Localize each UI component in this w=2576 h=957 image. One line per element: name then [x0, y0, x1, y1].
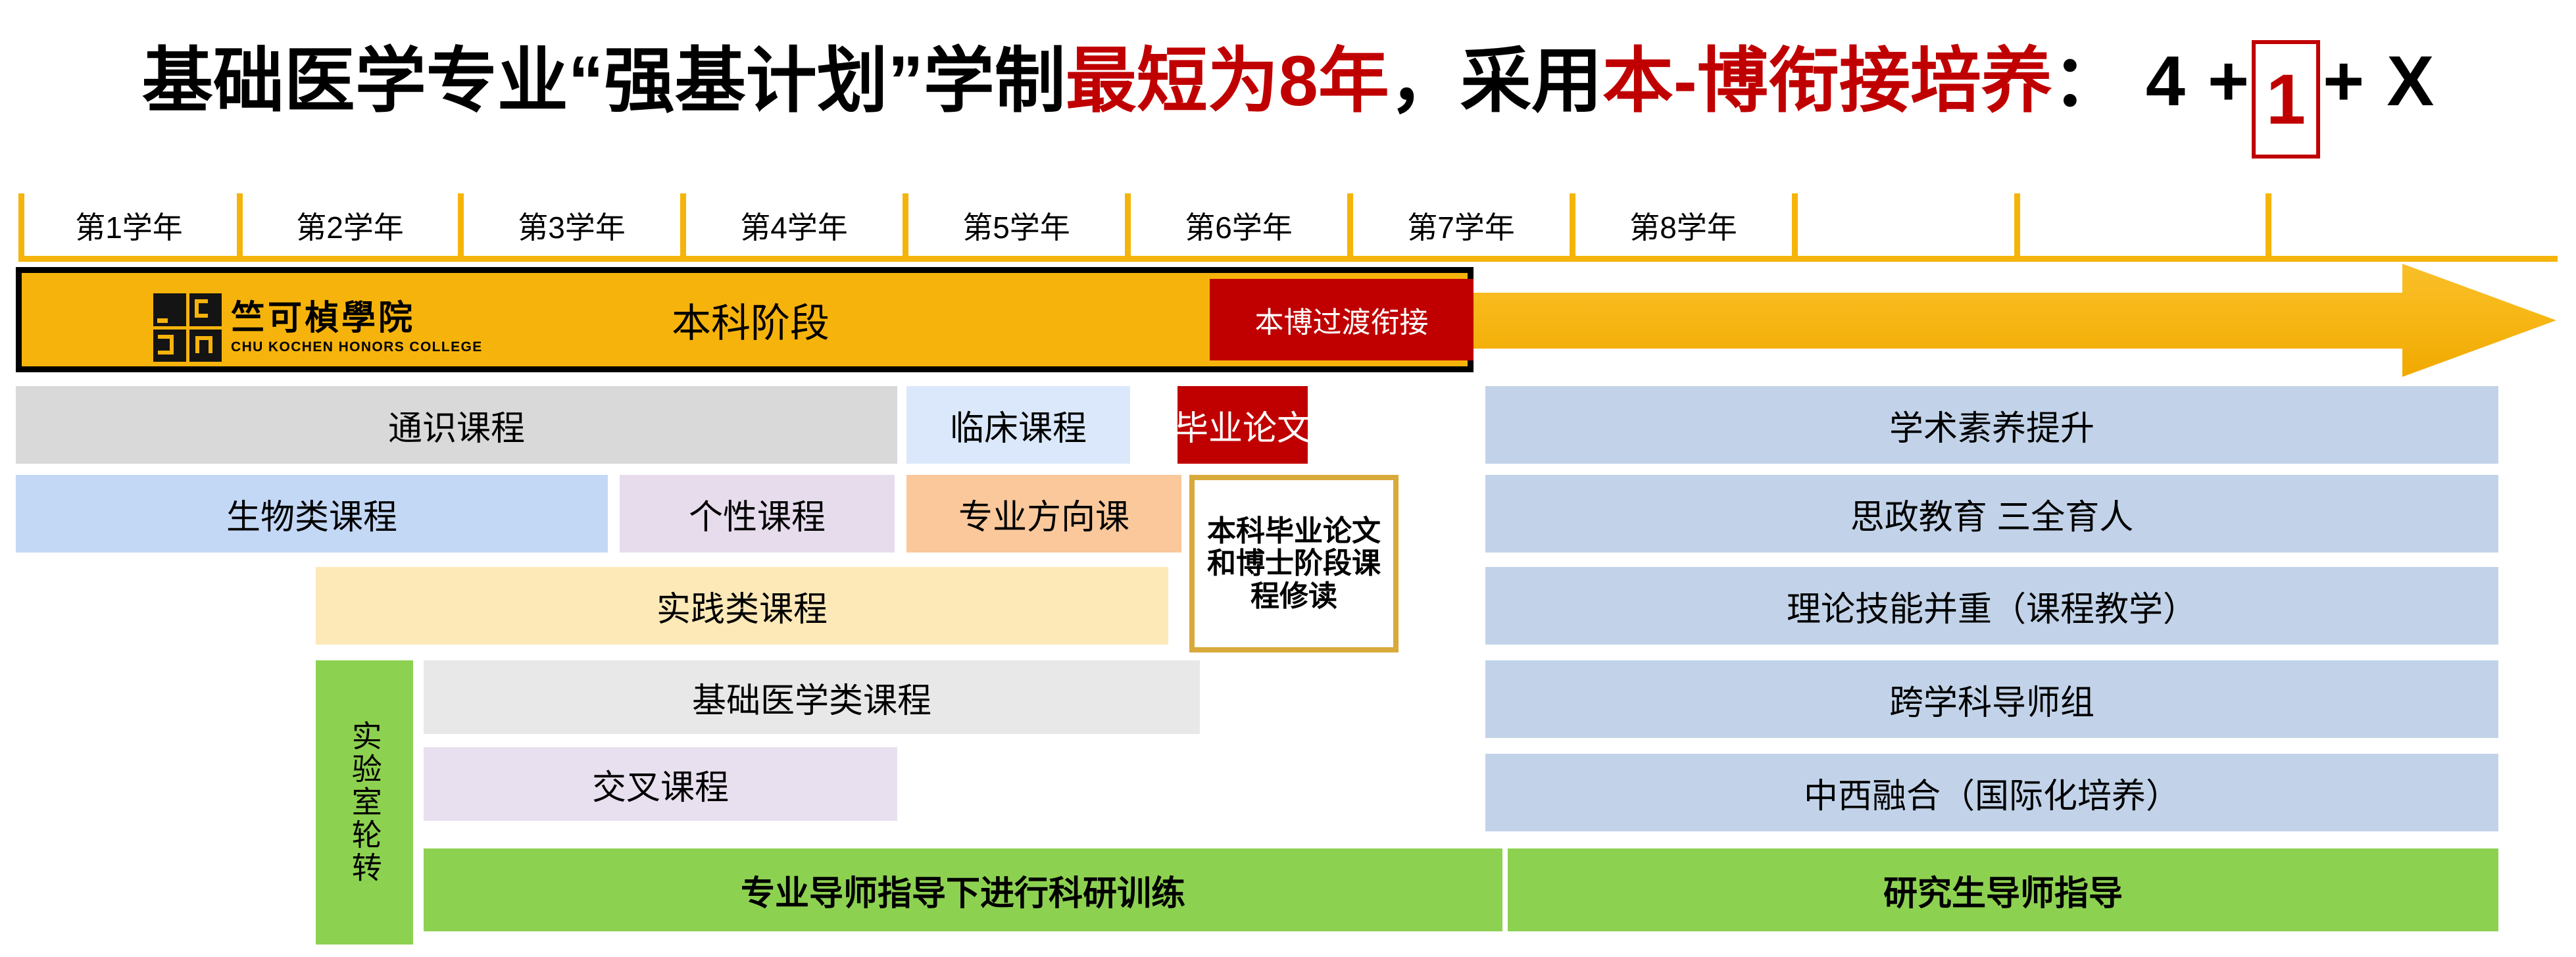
year-label: 第8学年 — [1629, 204, 1737, 247]
curriculum-block-basic-medicine-courses[interactable]: 基础医学类课程 — [424, 660, 1200, 734]
year-header-cell-7: 第7学年 — [1350, 189, 1572, 262]
curriculum-block-label: 通识课程 — [388, 401, 525, 450]
title-segment-1: 基础医学专业 — [142, 41, 568, 120]
year-header-cell-3: 第3学年 — [460, 189, 683, 262]
page-title: 基础医学专业“强基计划”学制最短为8年，采用本-博衔接培养：4+1+X — [0, 38, 2576, 124]
formula-plus-1: + — [2208, 41, 2249, 120]
curriculum-block-biology-courses[interactable]: 生物类课程 — [16, 475, 608, 552]
curriculum-block-clinical-courses[interactable]: 临床课程 — [906, 386, 1130, 464]
year-label: 第6学年 — [1185, 204, 1293, 247]
year-label: 第7学年 — [1407, 204, 1515, 247]
transition-badge: 本博过渡衔接 — [1210, 279, 1474, 360]
title-segment-highlight-track: 本-博衔接培养 — [1602, 41, 2052, 120]
year-label: 第4学年 — [740, 204, 848, 247]
curriculum-block-east-west-integration[interactable]: 中西融合（国际化培养） — [1485, 754, 2498, 831]
year-header-cell-1: 第1学年 — [18, 189, 239, 262]
title-segment-7: ： — [2052, 41, 2123, 120]
year-divider-1 — [237, 193, 243, 259]
curriculum-block-label: 毕业论文 — [1174, 401, 1311, 450]
curriculum-block-research-training[interactable]: 专业导师指导下进行科研训练 — [424, 848, 1502, 931]
year-divider-6 — [1347, 193, 1353, 259]
curriculum-block-general-courses[interactable]: 通识课程 — [16, 386, 897, 464]
title-segment-3: 学制 — [924, 41, 1066, 120]
year-header-cell-8: 第8学年 — [1572, 189, 1795, 262]
title-segment-5: ，采用 — [1389, 41, 1602, 120]
year-header-cell-4: 第4学年 — [683, 189, 905, 262]
formula-plus-2: + — [2323, 41, 2364, 120]
year-divider-4 — [903, 193, 908, 259]
curriculum-block-label: 理论技能并重（课程教学） — [1787, 581, 2197, 631]
curriculum-block-label: 实验室轮转 — [347, 720, 382, 885]
curriculum-block-major-direction-course[interactable]: 专业方向课 — [906, 475, 1181, 552]
curriculum-block-label: 跨学科导师组 — [1889, 675, 2094, 724]
year-divider-0 — [18, 193, 24, 259]
curriculum-block-thesis-and-phd-courses[interactable]: 本科毕业论文和博士阶段课程修读 — [1189, 475, 1399, 652]
curriculum-block-label: 学术素养提升 — [1889, 401, 2094, 450]
curriculum-block-personalized-courses[interactable]: 个性课程 — [620, 475, 895, 552]
curriculum-block-practice-courses[interactable]: 实践类课程 — [316, 567, 1168, 645]
year-divider-10 — [2266, 193, 2271, 259]
year-divider-2 — [458, 193, 464, 259]
curriculum-block-graduate-supervisor[interactable]: 研究生导师指导 — [1508, 848, 2498, 931]
title-segment-2: “强基计划” — [568, 41, 924, 120]
year-divider-8 — [1792, 193, 1798, 259]
year-divider-3 — [680, 193, 686, 259]
year-header-cell-5: 第5学年 — [905, 189, 1127, 262]
curriculum-block-cross-courses[interactable]: 交叉课程 — [424, 747, 897, 821]
curriculum-block-label: 中西融合（国际化培养） — [1804, 768, 2180, 818]
year-header-cell-2: 第2学年 — [239, 189, 460, 262]
curriculum-block-label: 思政教育 三全育人 — [1850, 489, 2133, 539]
curriculum-block-label: 临床课程 — [950, 401, 1087, 450]
curriculum-block-label: 本科毕业论文和博士阶段课程修读 — [1195, 515, 1393, 612]
undergraduate-stage-bar[interactable]: 竺可楨學院 CHU KOCHEN HONORS COLLEGE 本科阶段 本博过… — [16, 267, 1474, 372]
year-label: 第2学年 — [296, 204, 404, 247]
formula-x: X — [2387, 41, 2434, 120]
curriculum-block-label: 基础医学类课程 — [692, 673, 931, 722]
formula-boxed-one: 1 — [2252, 40, 2320, 159]
curriculum-block-label: 实践类课程 — [656, 581, 828, 631]
curriculum-block-label: 专业方向课 — [958, 489, 1129, 539]
curriculum-block-graduation-thesis[interactable]: 毕业论文 — [1177, 386, 1308, 464]
year-divider-7 — [1570, 193, 1575, 259]
curriculum-block-academic-literacy[interactable]: 学术素养提升 — [1485, 386, 2498, 464]
year-label: 第5学年 — [962, 204, 1070, 247]
curriculum-block-ideological-education[interactable]: 思政教育 三全育人 — [1485, 475, 2498, 552]
academic-year-header: 第1学年第2学年第3学年第4学年第5学年第6学年第7学年第8学年 — [18, 189, 2558, 262]
curriculum-block-lab-rotation[interactable]: 实验室轮转 — [316, 660, 413, 945]
curriculum-block-label: 专业导师指导下进行科研训练 — [741, 866, 1185, 915]
year-divider-5 — [1125, 193, 1131, 259]
curriculum-block-label: 生物类课程 — [226, 489, 397, 539]
curriculum-block-interdisciplinary-group[interactable]: 跨学科导师组 — [1485, 660, 2498, 738]
slide-canvas: 基础医学专业“强基计划”学制最短为8年，采用本-博衔接培养：4+1+X 第1学年… — [0, 0, 2576, 957]
curriculum-block-label: 研究生导师指导 — [1883, 866, 2123, 915]
year-label: 第3学年 — [518, 204, 626, 247]
title-segment-highlight-duration: 最短为8年 — [1066, 41, 1389, 120]
curriculum-block-label: 交叉课程 — [592, 760, 729, 809]
year-label: 第1学年 — [75, 204, 183, 247]
curriculum-block-theory-and-skills[interactable]: 理论技能并重（课程教学） — [1485, 567, 2498, 645]
year-divider-9 — [2014, 193, 2020, 259]
formula-4: 4 — [2146, 41, 2185, 120]
year-header-cell-6: 第6学年 — [1127, 189, 1350, 262]
curriculum-block-label: 个性课程 — [689, 489, 826, 539]
